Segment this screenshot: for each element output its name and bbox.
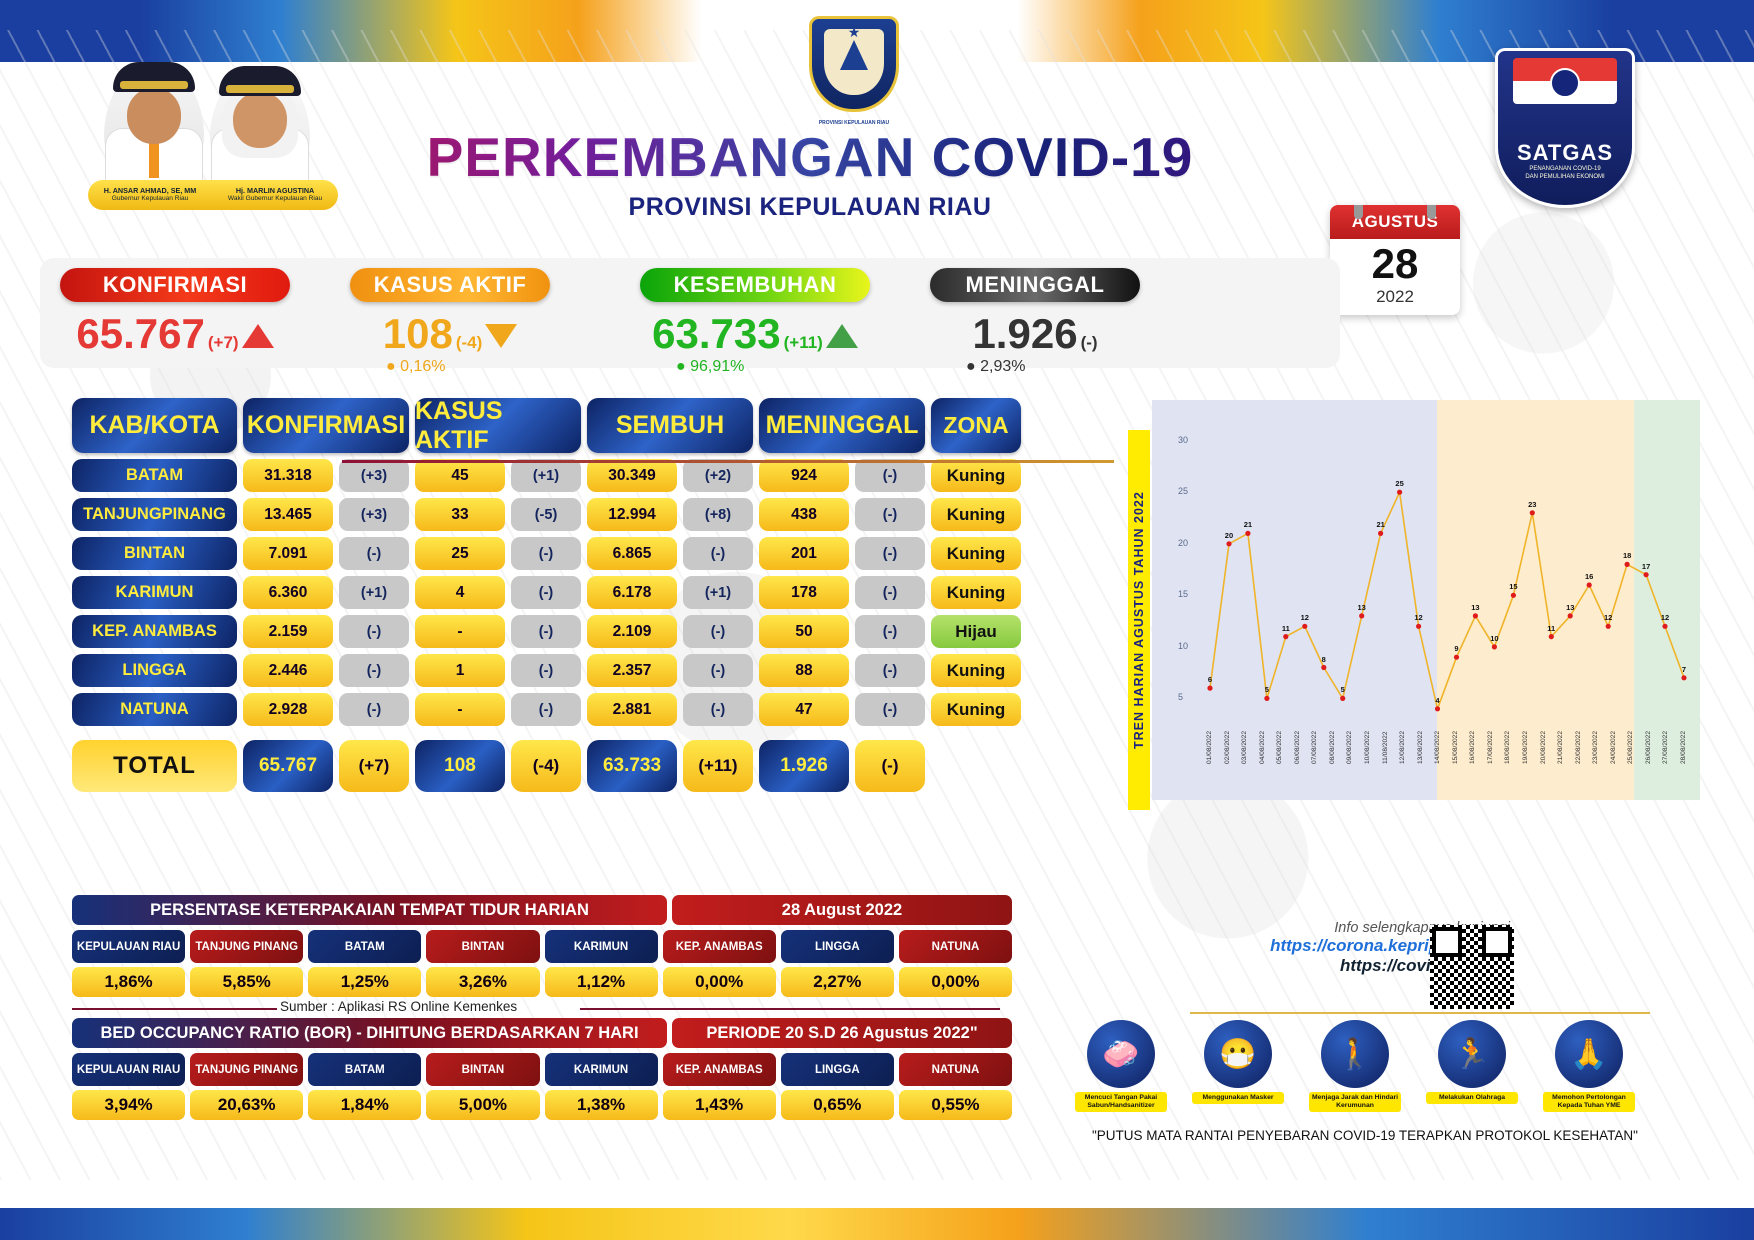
cell-sembuh: 12.994: [587, 498, 677, 531]
governors-name-bar: H. ANSAR AHMAD, SE, MM Gubernur Kepulaua…: [88, 180, 338, 210]
chart-point-label: 6: [1208, 675, 1212, 684]
chart-x-tick: 26/08/2022: [1645, 731, 1652, 764]
bor-region-label: NATUNA: [899, 930, 1012, 963]
cell-meninggal-delta: (-): [855, 615, 925, 648]
calendar-month: AGUSTUS: [1330, 205, 1460, 239]
cell-konfirmasi: 6.360: [243, 576, 333, 609]
chart-x-tick: 25/08/2022: [1627, 731, 1634, 764]
bor-region-label: BINTAN: [426, 1053, 539, 1086]
table-row[interactable]: BINTAN7.091(-)25(-)6.865(-)201(-)Kuning: [72, 537, 1021, 570]
bor-column: NATUNA0,00%: [899, 930, 1012, 997]
chart-point-label: 11: [1282, 624, 1290, 633]
kpi-percent: ● 0,16%: [386, 358, 550, 376]
table-row[interactable]: TANJUNGPINANG13.465(+3)33(-5)12.994(+8)4…: [72, 498, 1021, 531]
table-row[interactable]: NATUNA2.928(-)-(-)2.881(-)47(-)Kuning: [72, 693, 1021, 726]
provincial-crest-icon: ★ PROVINSI KEPULAUAN RIAU: [795, 8, 913, 126]
protocol-caption: Menjaga Jarak dan Hindari Kerumunan: [1309, 1092, 1401, 1112]
bor-period: PERIODE 20 S.D 26 Agustus 2022": [672, 1018, 1012, 1048]
cell-zona: Kuning: [931, 654, 1021, 687]
table-total-row: TOTAL65.767(+7)108(-4)63.733(+11)1.926(-…: [72, 740, 1021, 792]
chart-x-tick: 04/08/2022: [1259, 731, 1266, 764]
chart-point-label: 20: [1225, 531, 1233, 540]
bor-period: 28 August 2022: [672, 895, 1012, 925]
cell-meninggal: 924: [759, 459, 849, 492]
bor-value: 0,00%: [663, 967, 776, 997]
table-row[interactable]: BATAM31.318(+3)45(+1)30.349(+2)924(-)Kun…: [72, 459, 1021, 492]
cell-kasus-aktif: 33: [415, 498, 505, 531]
chart-point-label: 4: [1435, 696, 1439, 705]
chart-x-tick: 28/08/2022: [1680, 731, 1687, 764]
table-header-konfirmasi: KONFIRMASI: [243, 398, 409, 453]
bor-region-label: BATAM: [308, 930, 421, 963]
bor-value: 1,86%: [72, 967, 185, 997]
cell-konfirmasi: 31.318: [243, 459, 333, 492]
cell-meninggal: 178: [759, 576, 849, 609]
chart-x-tick: 02/08/2022: [1224, 731, 1231, 764]
protocol-item: 🙏Memohon Pertolongan Kepada Tuhan YME: [1543, 1020, 1635, 1112]
total-label: TOTAL: [72, 740, 237, 792]
cell-konfirmasi-delta: (-): [339, 537, 409, 570]
table-header-kasus-aktif: KASUS AKTIF: [415, 398, 581, 453]
bor-region-label: KEP. ANAMBAS: [663, 930, 776, 963]
cell-meninggal: 88: [759, 654, 849, 687]
pray-icon: 🙏: [1555, 1020, 1623, 1088]
total-kasus-aktif: 108: [415, 740, 505, 792]
cell-konfirmasi-delta: (+1): [339, 576, 409, 609]
bor-region-label: BATAM: [308, 1053, 421, 1086]
chart-x-tick: 01/08/2022: [1206, 731, 1213, 764]
protocol-caption: Memohon Pertolongan Kepada Tuhan YME: [1543, 1092, 1635, 1112]
chart-point-label: 9: [1454, 644, 1458, 653]
cell-konfirmasi: 2.446: [243, 654, 333, 687]
handwash-icon: 🧼: [1087, 1020, 1155, 1088]
table-row[interactable]: LINGGA2.446(-)1(-)2.357(-)88(-)Kuning: [72, 654, 1021, 687]
chart-point-label: 8: [1322, 655, 1326, 664]
cell-zona: Kuning: [931, 459, 1021, 492]
chart-point-label: 21: [1376, 520, 1384, 529]
cell-sembuh-delta: (-): [683, 615, 753, 648]
cell-meninggal: 201: [759, 537, 849, 570]
total-meninggal-delta: (-): [855, 740, 925, 792]
chart-x-tick: 16/08/2022: [1469, 731, 1476, 764]
cell-kasus-aktif: 4: [415, 576, 505, 609]
cell-sembuh: 2.881: [587, 693, 677, 726]
table-header-sembuh: SEMBUH: [587, 398, 753, 453]
cell-sembuh: 6.178: [587, 576, 677, 609]
cell-kasus-aktif-delta: (-): [511, 615, 581, 648]
bor-column: TANJUNG PINANG5,85%: [190, 930, 303, 997]
chart-point-label: 15: [1509, 582, 1517, 591]
chart-point-label: 5: [1265, 685, 1269, 694]
chart-x-tick: 15/08/2022: [1452, 731, 1459, 764]
cell-kasus-aktif-delta: (-): [511, 654, 581, 687]
cell-region-name: BATAM: [72, 459, 237, 492]
cell-kasus-aktif: 45: [415, 459, 505, 492]
bor-value: 1,43%: [663, 1090, 776, 1120]
trend-down-icon: [485, 324, 517, 348]
cell-kasus-aktif-delta: (+1): [511, 459, 581, 492]
mask-icon: 😷: [1204, 1020, 1272, 1088]
satgas-sub1: PENANGANAN COVID-19: [1495, 166, 1635, 174]
bor-value: 1,12%: [545, 967, 658, 997]
cell-kasus-aktif-delta: (-): [511, 576, 581, 609]
cell-meninggal-delta: (-): [855, 576, 925, 609]
trend-up-icon: [826, 324, 858, 348]
cell-konfirmasi-delta: (+3): [339, 459, 409, 492]
table-header-kab-kota: KAB/KOTA: [72, 398, 237, 453]
chart-x-tick: 21/08/2022: [1557, 731, 1564, 764]
bor-region-label: KEPULAUAN RIAU: [72, 930, 185, 963]
protocol-item: 😷Menggunakan Masker: [1192, 1020, 1284, 1112]
campaign-slogan: "PUTUS MATA RANTAI PENYEBARAN COVID-19 T…: [1045, 1128, 1685, 1143]
kpi-value-row: 108(-4): [350, 310, 550, 358]
page-subtitle: PROVINSI KEPULAUAN RIAU: [330, 193, 1290, 222]
kpi-label: KASUS AKTIF: [350, 268, 550, 302]
qr-code-icon[interactable]: [1430, 925, 1514, 1009]
cell-konfirmasi-delta: (-): [339, 615, 409, 648]
kpi-label: KONFIRMASI: [60, 268, 290, 302]
kpi-percent: ● 2,93%: [966, 358, 1140, 376]
chart-point-label: 12: [1661, 613, 1669, 622]
cell-konfirmasi-delta: (-): [339, 693, 409, 726]
chart-point-label: 7: [1682, 665, 1686, 674]
chart-x-tick: 11/08/2022: [1382, 731, 1389, 764]
cell-meninggal: 50: [759, 615, 849, 648]
cell-konfirmasi: 2.159: [243, 615, 333, 648]
table-header-meninggal: MENINGGAL: [759, 398, 925, 453]
chart-x-tick: 07/08/2022: [1311, 731, 1318, 764]
cell-region-name: TANJUNGPINANG: [72, 498, 237, 531]
cell-sembuh-delta: (-): [683, 654, 753, 687]
daily-trend-chart: 5101520253062021511128513212512491310152…: [1152, 400, 1700, 860]
bor-region-label: LINGGA: [781, 930, 894, 963]
bor-region-label: LINGGA: [781, 1053, 894, 1086]
cell-meninggal-delta: (-): [855, 537, 925, 570]
kpi-delta: (-4): [456, 333, 482, 353]
chart-point-label: 12: [1604, 613, 1612, 622]
chart-x-tick: 08/08/2022: [1329, 731, 1336, 764]
kpi-meninggal: MENINGGAL1.926(-)● 2,93%: [930, 268, 1140, 376]
cell-meninggal-delta: (-): [855, 693, 925, 726]
chart-point-label: 21: [1244, 520, 1252, 529]
satgas-sub2: DAN PEMULIHAN EKONOMI: [1495, 174, 1635, 182]
bor-region-label: TANJUNG PINANG: [190, 1053, 303, 1086]
protocol-caption: Mencuci Tangan Pakai Sabun/Handsanitizer: [1075, 1092, 1167, 1112]
trend-up-icon: [242, 324, 274, 348]
bor-region-label: KARIMUN: [545, 930, 658, 963]
kpi-delta: (+11): [784, 333, 823, 353]
cell-konfirmasi-delta: (+3): [339, 498, 409, 531]
bottom-decorative-band: [0, 1182, 1754, 1240]
regency-statistics-table: KAB/KOTAKONFIRMASIKASUS AKTIFSEMBUHMENIN…: [72, 398, 1021, 792]
cell-sembuh: 2.357: [587, 654, 677, 687]
cell-zona: Kuning: [931, 576, 1021, 609]
cell-kasus-aktif-delta: (-): [511, 693, 581, 726]
chart-x-tick: 22/08/2022: [1575, 731, 1582, 764]
kpi-value: 108: [383, 310, 453, 358]
distance-icon: 🚶: [1321, 1020, 1389, 1088]
kpi-delta: (+7): [208, 333, 239, 353]
chart-point-label: 18: [1623, 551, 1631, 560]
bor-region-label: NATUNA: [899, 1053, 1012, 1086]
cell-meninggal-delta: (-): [855, 654, 925, 687]
bor-column: BINTAN3,26%: [426, 930, 539, 997]
bor-value: 3,94%: [72, 1090, 185, 1120]
bor-value: 2,27%: [781, 967, 894, 997]
satgas-logo: SATGAS PENANGANAN COVID-19 DAN PEMULIHAN…: [1495, 48, 1635, 208]
cell-kasus-aktif: 25: [415, 537, 505, 570]
cell-meninggal-delta: (-): [855, 459, 925, 492]
bor-region-label: KEPULAUAN RIAU: [72, 1053, 185, 1086]
kpi-value: 65.767: [76, 310, 204, 358]
chart-x-tick: 10/08/2022: [1364, 731, 1371, 764]
bor-column: KEP. ANAMBAS0,00%: [663, 930, 776, 997]
cell-zona: Kuning: [931, 537, 1021, 570]
kpi-delta: (-): [1081, 333, 1098, 353]
kpi-label: KESEMBUHAN: [640, 268, 870, 302]
chart-y-axis-title: TREN HARIAN AGUSTUS TAHUN 2022: [1128, 430, 1150, 810]
chart-x-tick: 17/08/2022: [1487, 731, 1494, 764]
cell-sembuh-delta: (+8): [683, 498, 753, 531]
cell-region-name: BINTAN: [72, 537, 237, 570]
bor-column: KEPULAUAN RIAU1,86%: [72, 930, 185, 997]
cell-sembuh: 2.109: [587, 615, 677, 648]
bor-column: KEP. ANAMBAS1,43%: [663, 1053, 776, 1120]
chart-point-label: 13: [1566, 603, 1574, 612]
chart-point-label: 12: [1414, 613, 1422, 622]
chart-x-tick: 27/08/2022: [1662, 731, 1669, 764]
chart-x-tick: 20/08/2022: [1540, 731, 1547, 764]
table-row[interactable]: KARIMUN6.360(+1)4(-)6.178(+1)178(-)Kunin…: [72, 576, 1021, 609]
chart-x-tick: 13/08/2022: [1417, 731, 1424, 764]
protocol-item: 🚶Menjaga Jarak dan Hindari Kerumunan: [1309, 1020, 1401, 1112]
cell-sembuh-delta: (-): [683, 537, 753, 570]
page-title: PERKEMBANGAN COVID-19: [330, 125, 1290, 189]
total-sembuh: 63.733: [587, 740, 677, 792]
cell-meninggal: 47: [759, 693, 849, 726]
protocol-item: 🏃Melakukan Olahraga: [1426, 1020, 1518, 1112]
bor-value: 0,55%: [899, 1090, 1012, 1120]
bor-region-label: BINTAN: [426, 930, 539, 963]
chart-point-label: 16: [1585, 572, 1593, 581]
cell-region-name: KARIMUN: [72, 576, 237, 609]
bor-value: 1,38%: [545, 1090, 658, 1120]
bor-column: KARIMUN1,12%: [545, 930, 658, 997]
bor-source-note: Sumber : Aplikasi RS Online Kemenkes: [280, 999, 517, 1014]
chart-point-label: 13: [1358, 603, 1366, 612]
kpi-value: 1.926: [972, 310, 1077, 358]
bor-column: LINGGA2,27%: [781, 930, 894, 997]
total-kasus-aktif-delta: (-4): [511, 740, 581, 792]
date-calendar: AGUSTUS 28 2022: [1330, 205, 1460, 315]
cell-kasus-aktif-delta: (-5): [511, 498, 581, 531]
governor-role: Gubernur Kepulauan Riau: [104, 195, 197, 202]
bor-value: 20,63%: [190, 1090, 303, 1120]
chart-point-label: 11: [1547, 624, 1555, 633]
cell-region-name: LINGGA: [72, 654, 237, 687]
exercise-icon: 🏃: [1438, 1020, 1506, 1088]
kpi-label: MENINGGAL: [930, 268, 1140, 302]
bor-value: 3,26%: [426, 967, 539, 997]
vice-governor-role: Wakil Gubernur Kepulauan Riau: [228, 195, 322, 202]
cell-meninggal: 438: [759, 498, 849, 531]
bor-region-label: TANJUNG PINANG: [190, 930, 303, 963]
kpi-value-row: 1.926(-): [930, 310, 1140, 358]
bor-region-label: KARIMUN: [545, 1053, 658, 1086]
cell-kasus-aktif: 1: [415, 654, 505, 687]
cell-kasus-aktif-delta: (-): [511, 537, 581, 570]
header-titles: PERKEMBANGAN COVID-19 PROVINSI KEPULAUAN…: [330, 125, 1290, 222]
governor-portrait: [104, 64, 204, 184]
cell-sembuh: 30.349: [587, 459, 677, 492]
chart-point-label: 5: [1341, 685, 1345, 694]
total-konfirmasi-delta: (+7): [339, 740, 409, 792]
cell-sembuh-delta: (+1): [683, 576, 753, 609]
cell-zona: Kuning: [931, 693, 1021, 726]
cell-sembuh-delta: (-): [683, 693, 753, 726]
bor-column: BATAM1,84%: [308, 1053, 421, 1120]
bor-value: 5,00%: [426, 1090, 539, 1120]
kpi-kasus-aktif: KASUS AKTIF108(-4)● 0,16%: [350, 268, 550, 376]
vice-governor-portrait: [210, 68, 310, 184]
bor-column: LINGGA0,65%: [781, 1053, 894, 1120]
bor-column: TANJUNG PINANG20,63%: [190, 1053, 303, 1120]
bor-title: PERSENTASE KETERPAKAIAN TEMPAT TIDUR HAR…: [72, 895, 667, 925]
chart-x-tick: 18/08/2022: [1504, 731, 1511, 764]
cell-konfirmasi-delta: (-): [339, 654, 409, 687]
bor-value: 5,85%: [190, 967, 303, 997]
cell-meninggal-delta: (-): [855, 498, 925, 531]
bor-region-label: KEP. ANAMBAS: [663, 1053, 776, 1086]
protocol-caption: Menggunakan Masker: [1192, 1092, 1284, 1104]
cell-sembuh: 6.865: [587, 537, 677, 570]
chart-x-tick: 23/08/2022: [1592, 731, 1599, 764]
table-row[interactable]: KEP. ANAMBAS2.159(-)-(-)2.109(-)50(-)Hij…: [72, 615, 1021, 648]
cell-kasus-aktif: -: [415, 693, 505, 726]
bor-column: NATUNA0,55%: [899, 1053, 1012, 1120]
table-header-row: KAB/KOTAKONFIRMASIKASUS AKTIFSEMBUHMENIN…: [72, 398, 1021, 453]
cell-zona: Hijau: [931, 615, 1021, 648]
chart-x-tick: 03/08/2022: [1241, 731, 1248, 764]
chart-point-label: 25: [1395, 479, 1403, 488]
kpi-konfirmasi: KONFIRMASI65.767(+7): [60, 268, 290, 358]
cell-konfirmasi: 7.091: [243, 537, 333, 570]
chart-x-tick: 09/08/2022: [1346, 731, 1353, 764]
table-header-zona: ZONA: [931, 398, 1021, 453]
calendar-year: 2022: [1330, 287, 1460, 307]
cell-konfirmasi: 2.928: [243, 693, 333, 726]
kpi-percent: ● 96,91%: [676, 358, 870, 376]
chart-point-label: 12: [1301, 613, 1309, 622]
chart-line-series: [1152, 400, 1700, 860]
chart-x-tick: 05/08/2022: [1276, 731, 1283, 764]
chart-point-label: 10: [1490, 634, 1498, 643]
total-sembuh-delta: (+11): [683, 740, 753, 792]
cell-sembuh-delta: (+2): [683, 459, 753, 492]
bor-column: BINTAN5,00%: [426, 1053, 539, 1120]
chart-x-tick: 06/08/2022: [1294, 731, 1301, 764]
cell-zona: Kuning: [931, 498, 1021, 531]
cell-region-name: NATUNA: [72, 693, 237, 726]
bor-daily-table: PERSENTASE KETERPAKAIAN TEMPAT TIDUR HAR…: [72, 895, 1012, 997]
total-konfirmasi: 65.767: [243, 740, 333, 792]
bor-value: 1,25%: [308, 967, 421, 997]
kpi-value-row: 63.733(+11): [640, 310, 870, 358]
chart-x-tick: 12/08/2022: [1399, 731, 1406, 764]
vice-governor-name: Hj. MARLIN AGUSTINA: [228, 187, 322, 195]
chart-point-label: 17: [1642, 562, 1650, 571]
bor-column: KEPULAUAN RIAU3,94%: [72, 1053, 185, 1120]
kpi-kesembuhan: KESEMBUHAN63.733(+11)● 96,91%: [640, 268, 870, 376]
calendar-day: 28: [1330, 241, 1460, 287]
bor-title: BED OCCUPANCY RATIO (BOR) - DIHITUNG BER…: [72, 1018, 667, 1048]
chart-x-tick: 19/08/2022: [1522, 731, 1529, 764]
satgas-title: SATGAS: [1495, 140, 1635, 166]
protocol-caption: Melakukan Olahraga: [1426, 1092, 1518, 1104]
cell-region-name: KEP. ANAMBAS: [72, 615, 237, 648]
chart-x-tick: 14/08/2022: [1434, 731, 1441, 764]
protocol-item: 🧼Mencuci Tangan Pakai Sabun/Handsanitize…: [1075, 1020, 1167, 1112]
governors-photo: H. ANSAR AHMAD, SE, MM Gubernur Kepulaua…: [88, 60, 338, 210]
health-protocol-icons: 🧼Mencuci Tangan Pakai Sabun/Handsanitize…: [1075, 1020, 1635, 1112]
chart-x-tick: 24/08/2022: [1610, 731, 1617, 764]
total-meninggal: 1.926: [759, 740, 849, 792]
kpi-value: 63.733: [652, 310, 780, 358]
bor-column: KARIMUN1,38%: [545, 1053, 658, 1120]
kpi-value-row: 65.767(+7): [60, 310, 290, 358]
bor-value: 0,00%: [899, 967, 1012, 997]
cell-konfirmasi: 13.465: [243, 498, 333, 531]
chart-point-label: 23: [1528, 500, 1536, 509]
governor-name: H. ANSAR AHMAD, SE, MM: [104, 187, 197, 195]
bor-weekly-table: BED OCCUPANCY RATIO (BOR) - DIHITUNG BER…: [72, 1018, 1012, 1120]
bor-column: BATAM1,25%: [308, 930, 421, 997]
bor-value: 0,65%: [781, 1090, 894, 1120]
cell-kasus-aktif: -: [415, 615, 505, 648]
bor-value: 1,84%: [308, 1090, 421, 1120]
chart-point-label: 13: [1471, 603, 1479, 612]
